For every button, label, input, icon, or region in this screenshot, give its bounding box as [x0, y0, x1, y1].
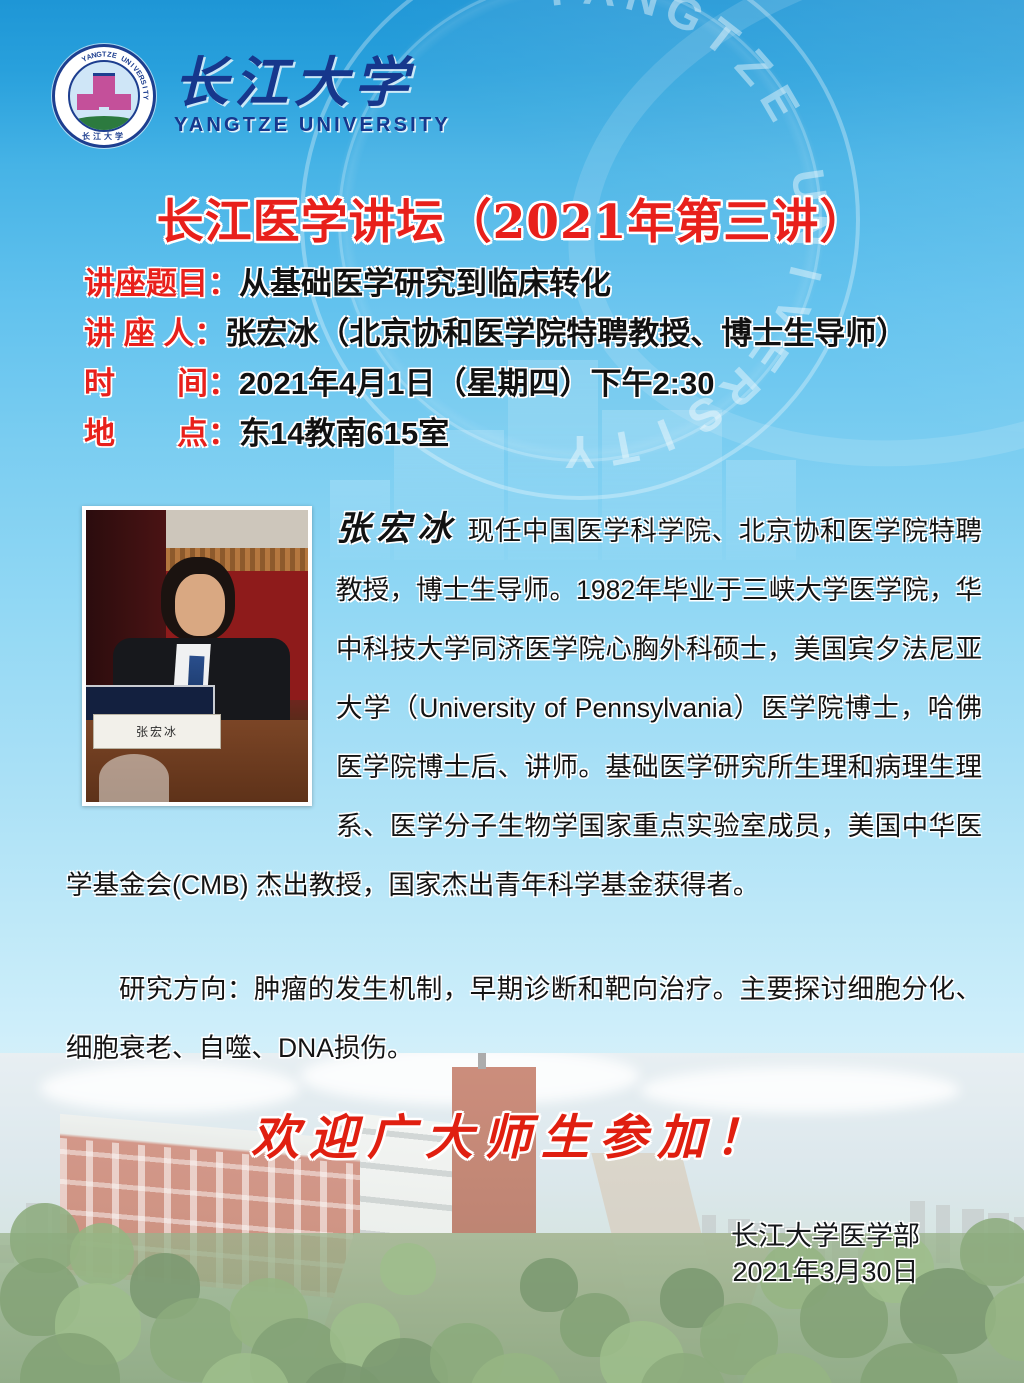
lecture-info-row: 讲座题目：从基础医学研究到临床转化: [84, 264, 994, 305]
university-seal-icon: YANGTZEUNIVERSITY 长江大学: [52, 44, 156, 148]
lecture-info-label: 时 间：: [84, 364, 239, 405]
welcome-slogan: 欢迎广大师生参加！: [0, 1098, 1024, 1168]
footer-date: 2021年3月30日: [731, 1254, 920, 1290]
lecture-info-value: 东14教南615室: [239, 414, 449, 455]
photo-podium-emblem: [99, 754, 169, 802]
watermark-arc-letter: Y: [538, 0, 574, 18]
watermark-arc-letter: G: [657, 0, 713, 45]
speaker-bio-block: 张宏冰 张宏冰现任中国医学科学院、北京协和医学院特聘教授，博士生导师。1982年…: [66, 500, 982, 915]
photo-nameplate-text: 张宏冰: [94, 715, 221, 748]
lecture-info-label: 地 点：: [84, 414, 239, 455]
seal-arc-letter: I: [140, 85, 149, 89]
lecture-info-value: 张宏冰（北京协和医学院特聘教授、博士生导师）: [225, 314, 907, 355]
seal-arc-letter: E: [111, 50, 118, 60]
seal-building-tower: [93, 73, 115, 107]
university-wordmark: 长江大学 YANGTZE UNIVERSITY: [174, 55, 451, 137]
page-title: 长江医学讲坛（2021年第三讲）: [0, 183, 1024, 252]
seal-inner-ring: [68, 60, 140, 132]
footer-organizer: 长江大学医学部: [731, 1218, 920, 1254]
watermark-arc-letter: T: [694, 7, 749, 67]
watermark-arc-letter: Z: [725, 39, 784, 96]
seal-chinese-text: 长江大学: [55, 131, 153, 142]
watermark-arc-letter: A: [581, 0, 619, 17]
university-name-cn: 长江大学: [174, 55, 451, 109]
lecture-info-label: 讲座题目：: [84, 264, 239, 305]
seal-hill-shape: [68, 116, 140, 132]
speaker-signature-name: 张宏冰: [336, 509, 468, 549]
lecture-info-row: 地 点：东14教南615室: [84, 414, 994, 455]
watermark-arc-letter: N: [620, 0, 667, 27]
lecture-info-value: 2021年4月1日（星期四）下午2:30: [239, 364, 715, 405]
speaker-photo: 张宏冰: [82, 506, 312, 806]
lecture-info-row: 讲 座 人：张宏冰（北京协和医学院特聘教授、博士生导师）: [84, 314, 994, 355]
university-name-en: YANGTZE UNIVERSITY: [174, 114, 451, 137]
poster-footer: 长江大学医学部 2021年3月30日: [731, 1218, 920, 1291]
photo-speaker-face: [175, 574, 225, 636]
research-direction-text: 研究方向：肿瘤的发生机制，早期诊断和靶向治疗。主要探讨细胞分化、细胞衰老、自噬、…: [66, 960, 982, 1078]
lecture-info-value: 从基础医学研究到临床转化: [239, 264, 611, 305]
photo-nameplate: 张宏冰: [93, 714, 222, 749]
watermark-arc-letter: E: [749, 76, 811, 130]
speaker-photo-image: 张宏冰: [86, 510, 308, 802]
lecture-info-row: 时 间：2021年4月1日（星期四）下午2:30: [84, 364, 994, 405]
lecture-info-label: 讲 座 人：: [84, 314, 225, 355]
lecture-info-list: 讲座题目：从基础医学研究到临床转化讲 座 人：张宏冰（北京协和医学院特聘教授、博…: [84, 264, 994, 464]
university-logo-row: YANGTZEUNIVERSITY 长江大学 长江大学 YANGTZE UNIV…: [52, 44, 451, 148]
lecture-poster: YANGTZEUNIVERSITY YANGTZEUNIVERSITY 长江大学: [0, 0, 1024, 1383]
seal-arc-letter: Y: [141, 95, 150, 100]
